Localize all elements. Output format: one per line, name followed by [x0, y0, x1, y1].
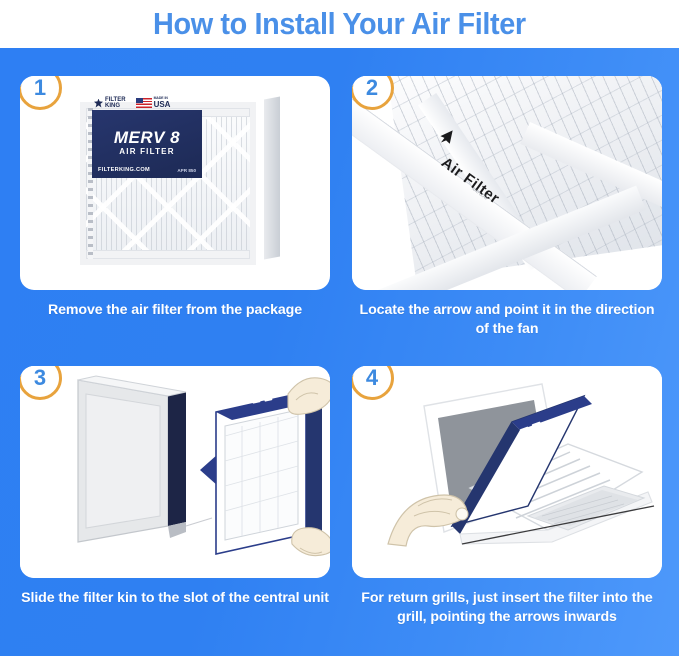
filter-rail-bottom: [86, 250, 250, 259]
infographic-page: How to Install Your Air Filter 1: [0, 0, 679, 656]
guide-line: [186, 518, 212, 526]
step-1-caption: Remove the air filter from the package: [20, 301, 330, 320]
label-footer: FILTERKING.COM APR 850: [98, 167, 196, 173]
filter-side-depth: [264, 96, 280, 259]
step-2-card: 2 Air Filter AIRFLOW: [352, 76, 662, 290]
step-2-number: 2: [366, 76, 378, 101]
product-code: APR 850: [177, 168, 196, 173]
hand-inserting: [388, 495, 468, 546]
step-4-card: 4: [352, 366, 662, 578]
step-3-number: 3: [34, 366, 46, 391]
brand-line-2: KING: [105, 103, 120, 109]
brand-name: FILTER KING: [105, 97, 126, 109]
slide-filter-svg: [20, 366, 330, 578]
step-4-number: 4: [366, 366, 378, 391]
hand-top: [288, 378, 330, 414]
step-3-caption: Slide the filter kin to the slot of the …: [20, 589, 330, 608]
slide-filter-illustration: [20, 366, 330, 578]
step-4: 4: [352, 366, 662, 627]
website-text: FILTERKING.COM: [98, 167, 150, 173]
thumb-tip: [456, 508, 468, 520]
central-unit-slot: [78, 376, 186, 542]
filter-king-logo: FILTER KING: [94, 97, 126, 109]
usa-label: USA: [154, 101, 171, 109]
step-3-card: 3: [20, 366, 330, 578]
air-filter-subtitle: AIR FILTER: [92, 147, 202, 156]
filter-corner-photo: Air Filter AIRFLOW: [352, 76, 662, 290]
step-3: 3: [20, 366, 330, 608]
air-filter-product-image: FILTER KING MADE IN USA MERV 8 AIR: [80, 92, 280, 274]
usa-flag-icon: [136, 98, 152, 108]
step-1-card: 1 FILTER KING: [20, 76, 330, 290]
step-2: 2 Air Filter AIRFLOW Locate the arrow an…: [352, 76, 662, 339]
step-4-caption: For return grills, just insert the filte…: [352, 589, 662, 627]
filter-navy-label: MERV 8 AIR FILTER FILTERKING.COM APR 850: [92, 110, 202, 178]
step-1: 1 FILTER KING: [20, 76, 330, 320]
return-grill-illustration: [352, 366, 662, 578]
title-bar: How to Install Your Air Filter: [0, 0, 679, 48]
merv-rating: MERV 8: [92, 128, 202, 148]
page-title: How to Install Your Air Filter: [153, 6, 526, 42]
step-2-caption: Locate the arrow and point it in the dir…: [352, 301, 662, 339]
usa-text-group: MADE IN USA: [154, 97, 171, 108]
step-1-badge: 1: [20, 76, 62, 110]
made-in-usa-badge: MADE IN USA: [136, 97, 171, 108]
return-grill-svg: [352, 366, 662, 578]
crown-star-icon: [94, 99, 103, 108]
filter-brand-row: FILTER KING MADE IN USA: [94, 96, 204, 110]
step-1-number: 1: [34, 76, 46, 101]
hand-bottom: [292, 528, 330, 556]
